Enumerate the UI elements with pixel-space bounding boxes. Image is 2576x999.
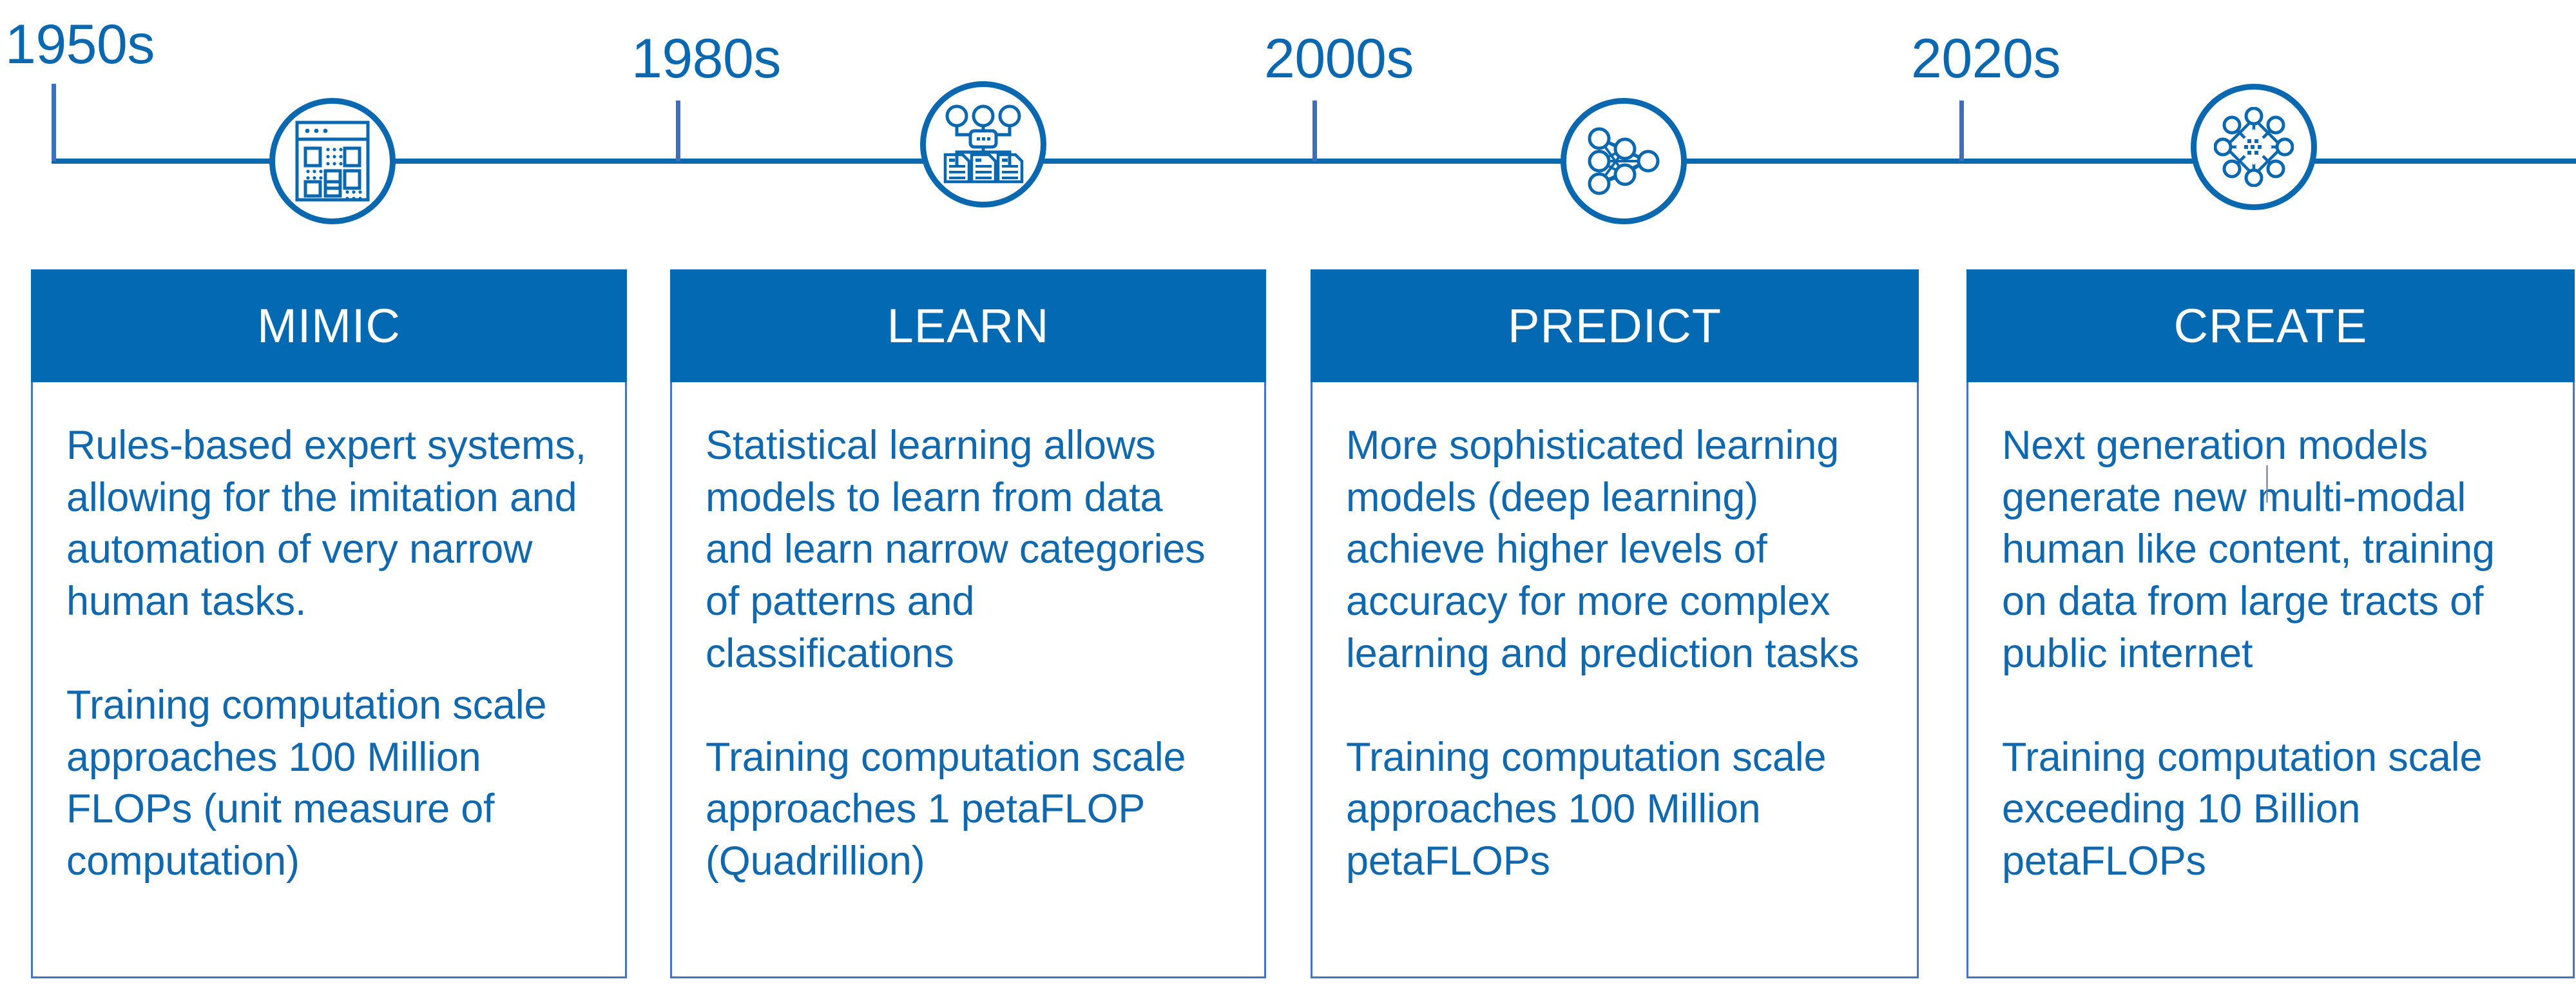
card-paragraph-primary: More sophisticated learning models (deep…: [1346, 420, 1883, 679]
card-body-learn: Statistical learning allows models to le…: [670, 382, 1266, 978]
stage-cards: MIMIC Rules-based expert systems, allowi…: [0, 0, 2576, 999]
card-title-predict: PREDICT: [1508, 302, 1722, 350]
card-paragraph-primary: Rules-based expert systems, allowing for…: [66, 420, 591, 628]
card-paragraph-compute: Training computation scale approaches 1 …: [706, 732, 1231, 887]
card-paragraph-primary: Next generation models generate new mult…: [2002, 420, 2539, 679]
stage-card-predict[interactable]: PREDICT More sophisticated learning mode…: [1311, 269, 1919, 978]
card-body-mimic: Rules-based expert systems, allowing for…: [31, 382, 627, 978]
card-paragraph-compute: Training computation scale exceeding 10 …: [2002, 732, 2539, 887]
card-body-predict: More sophisticated learning models (deep…: [1311, 382, 1919, 978]
card-title-create: CREATE: [2174, 302, 2368, 350]
stage-card-learn[interactable]: LEARN Statistical learning allows models…: [670, 269, 1266, 978]
stage-card-create[interactable]: CREATE Next generation models generate n…: [1966, 269, 2575, 978]
card-paragraph-compute: Training computation scale approaches 10…: [1346, 732, 1883, 887]
card-paragraph-primary: Statistical learning allows models to le…: [706, 420, 1231, 679]
card-body-create: Next generation models generate new mult…: [1966, 382, 2575, 978]
card-header-predict: PREDICT: [1311, 269, 1919, 382]
card-header-create: CREATE: [1966, 269, 2575, 382]
card-header-mimic: MIMIC: [31, 269, 627, 382]
card-header-learn: LEARN: [670, 269, 1266, 382]
card-title-learn: LEARN: [887, 302, 1050, 350]
card-title-mimic: MIMIC: [257, 302, 401, 350]
text-cursor-icon: [2266, 465, 2268, 503]
stage-card-mimic[interactable]: MIMIC Rules-based expert systems, allowi…: [31, 269, 627, 978]
card-paragraph-compute: Training computation scale approaches 10…: [66, 679, 591, 887]
